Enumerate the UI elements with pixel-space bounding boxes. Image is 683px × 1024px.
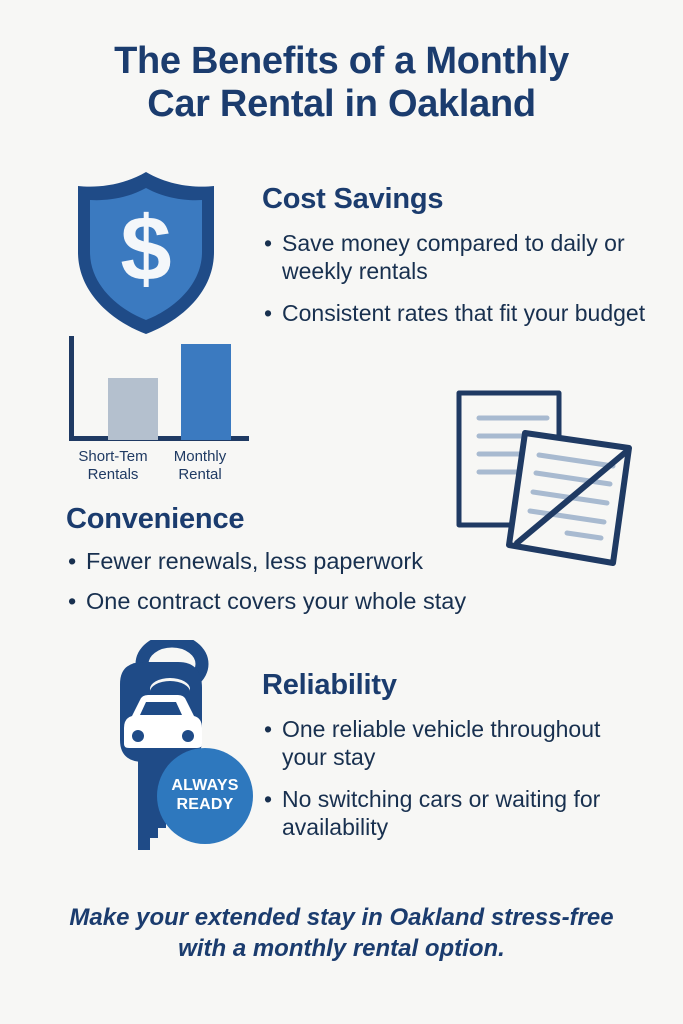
list-item: • Save money compared to daily or weekly…: [262, 229, 652, 286]
list-item-label: Fewer renewals, less paperwork: [86, 548, 423, 574]
section-heading-convenience: Convenience: [66, 504, 586, 536]
badge-line-2: READY: [176, 796, 233, 815]
footer-line-1: Make your extended stay in Oakland stres…: [56, 902, 627, 933]
bar-short-term-rentals: [108, 378, 158, 440]
page-title: The Benefits of a Monthly Car Rental in …: [0, 40, 683, 126]
page-title-line-1: The Benefits of a Monthly: [0, 40, 683, 83]
list-item: • Consistent rates that fit your budget: [262, 299, 652, 328]
bullet-icon: •: [264, 229, 272, 258]
section-reliability: Reliability • One reliable vehicle throu…: [262, 670, 632, 842]
list-item: • Fewer renewals, less paperwork: [66, 547, 586, 576]
list-item-label: No switching cars or waiting for availab…: [282, 786, 600, 841]
always-ready-badge: ALWAYS READY: [157, 748, 253, 844]
svg-text:$: $: [120, 198, 171, 300]
shield-dollar-icon: $: [66, 168, 226, 338]
section-heading-reliability: Reliability: [262, 670, 632, 702]
bullet-icon: •: [264, 785, 272, 814]
chart-label-monthly: Monthly Rental: [157, 448, 243, 485]
section-heading-cost-savings: Cost Savings: [262, 184, 652, 216]
bar-monthly-rental: [181, 344, 231, 440]
chart-category-labels: Short-Tem Rentals Monthly Rental: [69, 448, 249, 485]
chart-label-short-term: Short-Tem Rentals: [69, 448, 157, 485]
bullet-icon: •: [68, 547, 76, 576]
chart-plot-area: [63, 330, 249, 445]
bullet-icon: •: [264, 299, 272, 328]
list-item-label: Save money compared to daily or weekly r…: [282, 230, 625, 285]
bullet-icon: •: [264, 715, 272, 744]
footer-tagline: Make your extended stay in Oakland stres…: [56, 902, 627, 964]
list-item: • One contract covers your whole stay: [66, 587, 586, 616]
car-key-icon: ALWAYS READY: [62, 640, 262, 865]
bullet-icon: •: [68, 587, 76, 616]
list-item-label: Consistent rates that fit your budget: [282, 300, 645, 326]
chart-y-axis: [69, 336, 74, 440]
badge-line-1: ALWAYS: [171, 777, 238, 796]
list-item-label: One contract covers your whole stay: [86, 588, 466, 614]
list-item-label: One reliable vehicle throughout your sta…: [282, 716, 600, 771]
infographic-page: The Benefits of a Monthly Car Rental in …: [0, 0, 683, 1024]
bullet-list-convenience: • Fewer renewals, less paperwork • One c…: [66, 547, 586, 616]
footer-line-2: with a monthly rental option.: [56, 933, 627, 964]
list-item: • One reliable vehicle throughout your s…: [262, 715, 632, 772]
list-item: • No switching cars or waiting for avail…: [262, 785, 632, 842]
cost-comparison-bar-chart: Short-Tem Rentals Monthly Rental: [63, 330, 253, 490]
bullet-list-cost-savings: • Save money compared to daily or weekly…: [262, 229, 652, 328]
bullet-list-reliability: • One reliable vehicle throughout your s…: [262, 715, 632, 842]
section-convenience: Convenience • Fewer renewals, less paper…: [66, 504, 586, 616]
section-cost-savings: Cost Savings • Save money compared to da…: [262, 184, 652, 327]
page-title-line-2: Car Rental in Oakland: [0, 83, 683, 126]
